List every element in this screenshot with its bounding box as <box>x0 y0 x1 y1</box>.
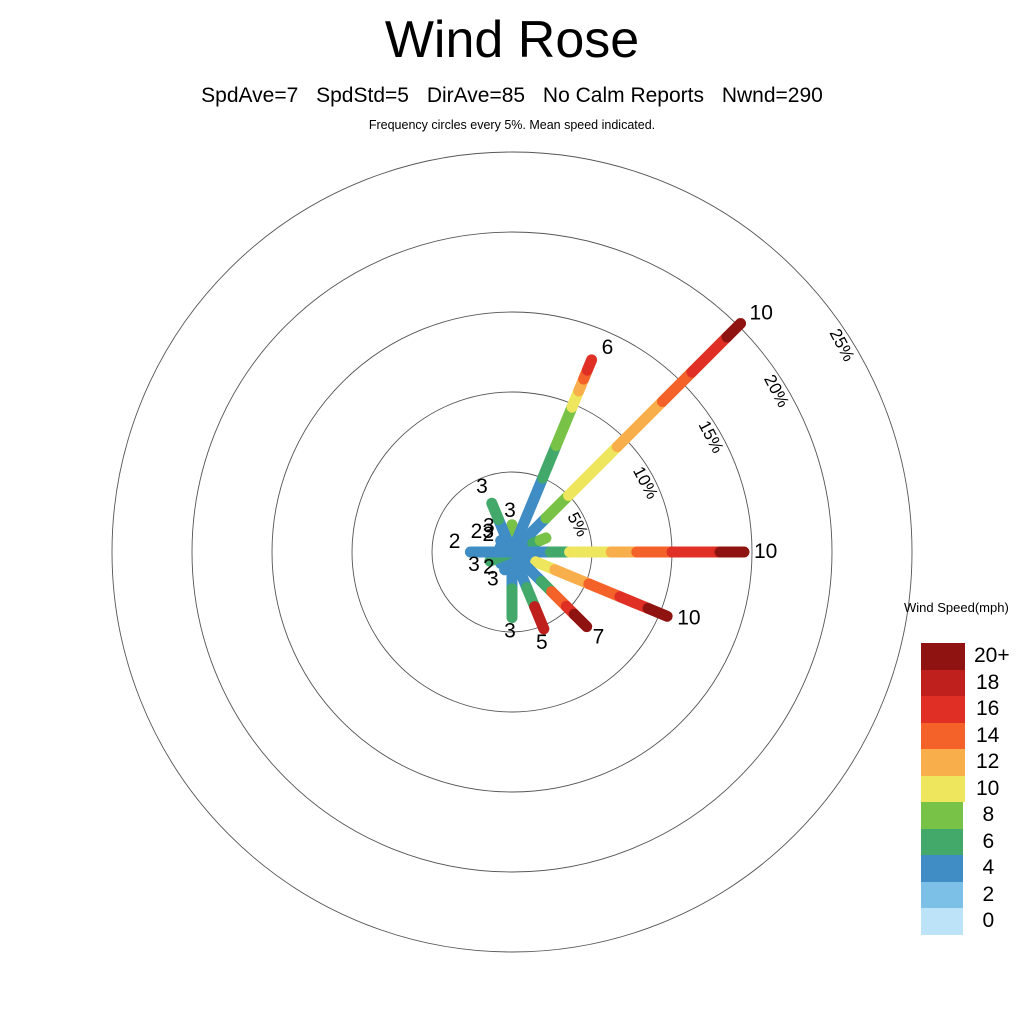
wind-petals <box>470 323 744 628</box>
legend-row: 0 <box>921 908 1024 935</box>
petal-mean-speed-label: 3 <box>504 620 516 643</box>
legend-entries: 20+181614121086420 <box>921 643 1024 935</box>
petal-segment <box>727 323 741 337</box>
legend-swatch <box>921 776 965 803</box>
legend-label: 4 <box>972 856 1024 880</box>
legend-label: 2 <box>972 883 1024 907</box>
petal-segment <box>617 402 662 447</box>
petal-mean-speed-label: 5 <box>536 631 548 654</box>
petal-mean-speed-label: 3 <box>476 475 488 498</box>
legend-swatch <box>921 829 963 856</box>
petal-mean-speed-label: 10 <box>750 301 773 324</box>
legend-swatch <box>921 643 965 670</box>
wind-rose-page: Wind Rose SpdAve=7 SpdStd=5 DirAve=85 No… <box>0 0 1024 1024</box>
petal-segment <box>587 360 591 370</box>
legend-swatch <box>921 670 965 697</box>
petal-mean-speed-label: 3 <box>468 553 480 576</box>
legend-swatch <box>921 723 965 750</box>
petal-segment <box>569 447 618 496</box>
legend-row: 4 <box>921 855 1024 882</box>
petal-mean-speed-label: 10 <box>754 540 777 563</box>
legend-label: 18 <box>974 671 1020 695</box>
legend-label: 20+ <box>974 644 1018 668</box>
petal-segment <box>648 608 667 616</box>
radial-tick-label: 20% <box>760 372 793 411</box>
radial-tick-label: 15% <box>695 417 728 456</box>
petal-segment <box>535 607 544 629</box>
petal-mean-speed-label: 2 <box>449 530 461 553</box>
petal-mean-speed-label: 6 <box>602 336 614 359</box>
svg-text:20%: 20% <box>760 372 793 411</box>
svg-text:10%: 10% <box>629 463 662 502</box>
legend-label: 10 <box>974 777 1020 801</box>
radial-tick-label: 10% <box>629 463 662 502</box>
center-annotation-label: 23 <box>471 520 494 543</box>
petal-mean-speed-label: 2 <box>483 555 495 578</box>
legend-row: 8 <box>921 802 1024 829</box>
mean-speed-labels: 36101010753323223323 <box>449 301 778 653</box>
petal-mean-speed-label: 10 <box>677 606 700 629</box>
legend-swatch <box>921 749 965 776</box>
legend-label: 14 <box>974 724 1020 748</box>
legend-row: 2 <box>921 882 1024 909</box>
legend-row: 18 <box>921 670 1024 697</box>
legend-row: 6 <box>921 829 1024 856</box>
legend-label: 16 <box>974 697 1020 721</box>
legend-swatch <box>921 696 965 723</box>
radial-tick-label: 5% <box>564 509 592 540</box>
petal-mean-speed-label: 3 <box>504 499 516 522</box>
petal-segment <box>555 570 589 584</box>
petal-segment <box>574 614 586 626</box>
legend-swatch <box>921 908 963 935</box>
legend-row: 20+ <box>921 643 1024 670</box>
petal-mean-speed-label: 7 <box>593 626 605 649</box>
wind-rose-plot: 5%10%15%20%25% 36101010753323223323 <box>0 0 1024 1024</box>
svg-text:5%: 5% <box>564 509 592 540</box>
legend-row: 16 <box>921 696 1024 723</box>
legend-label: 12 <box>974 750 1020 774</box>
legend-swatch <box>921 855 963 882</box>
legend-label: 0 <box>972 909 1024 933</box>
legend-row: 14 <box>921 723 1024 750</box>
svg-text:15%: 15% <box>695 417 728 456</box>
petal-segment <box>540 538 546 540</box>
legend-label: 6 <box>972 830 1024 854</box>
petal-segment <box>692 337 727 372</box>
legend-swatch <box>921 882 963 909</box>
legend-title: Wind Speed(mph) <box>904 600 1024 615</box>
legend: Wind Speed(mph) 20+181614121086420 <box>898 600 1024 935</box>
petal-segment <box>662 372 691 401</box>
legend-label: 8 <box>972 803 1024 827</box>
petal-segment <box>556 407 572 445</box>
legend-row: 12 <box>921 749 1024 776</box>
svg-text:25%: 25% <box>826 326 859 365</box>
legend-swatch <box>921 802 963 829</box>
legend-row: 10 <box>921 776 1024 803</box>
radial-tick-label: 25% <box>826 326 859 365</box>
